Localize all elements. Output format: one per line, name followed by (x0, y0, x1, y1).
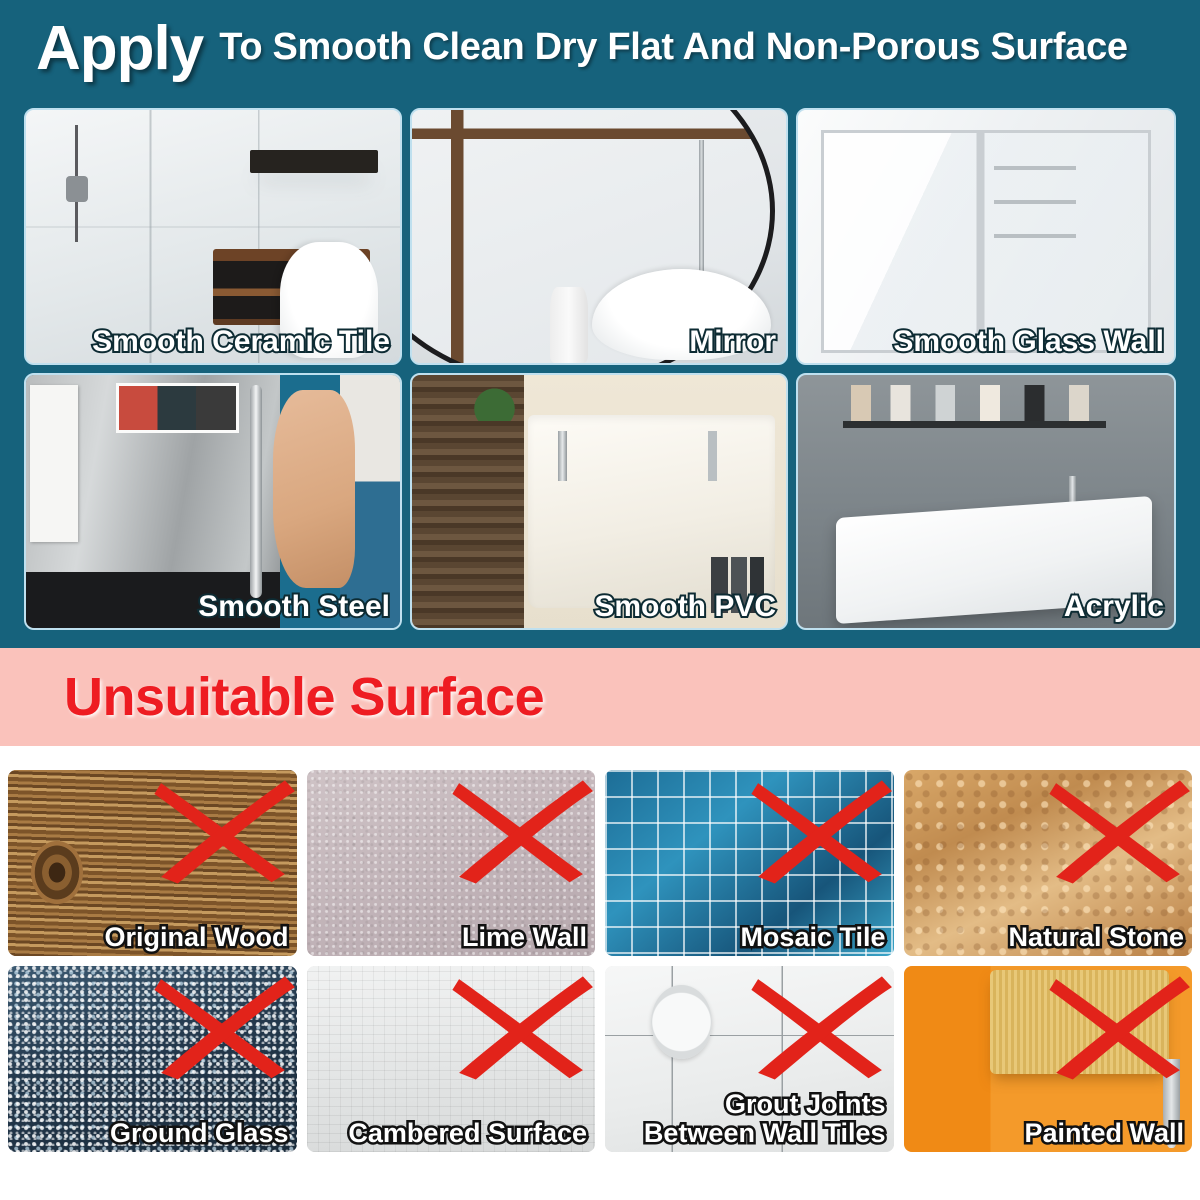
unsuitable-tile-lime-wall[interactable]: Lime Wall (307, 770, 596, 956)
apply-tile-acrylic[interactable]: Acrylic (796, 373, 1176, 630)
apply-tile-row-1: Smooth Ceramic Tile Mirror Smooth Glass … (24, 108, 1176, 365)
apply-tile-label: Smooth Steel (198, 591, 390, 623)
fridge-handle-icon (250, 385, 262, 598)
apply-tile-smooth-ceramic-tile[interactable]: Smooth Ceramic Tile (24, 108, 402, 365)
unsuitable-tile-label: Grout Joints Between Wall Tiles (644, 1090, 886, 1148)
unsuitable-tile-label: Cambered Surface (348, 1119, 587, 1148)
unsuitable-banner: Unsuitable Surface (0, 648, 1200, 746)
unsuitable-tile-natural-stone[interactable]: Natural Stone (904, 770, 1193, 956)
unsuitable-tile-original-wood[interactable]: Original Wood (8, 770, 297, 956)
fridge-magnet-photos (116, 383, 239, 434)
unsuitable-tile-label: Original Wood (105, 923, 289, 952)
arm-icon (273, 390, 355, 587)
faucet-icon (699, 140, 704, 272)
vase-icon (550, 287, 587, 363)
apply-heading-word: Apply (36, 18, 203, 80)
unsuitable-tile-mosaic-tile[interactable]: Mosaic Tile (605, 770, 894, 956)
apply-tile-label: Smooth Glass Wall (893, 326, 1164, 358)
shower-head-icon (75, 125, 78, 241)
apply-tile-smooth-pvc[interactable]: Smooth PVC (410, 373, 788, 630)
unsuitable-tile-label: Painted Wall (1024, 1119, 1184, 1148)
unsuitable-tile-row-1: Original Wood Lime Wall (8, 770, 1192, 956)
unsuitable-tile-ground-glass[interactable]: Ground Glass (8, 966, 297, 1152)
apply-tile-smooth-glass-wall[interactable]: Smooth Glass Wall (796, 108, 1176, 365)
floating-shelf-icon (843, 421, 1106, 428)
unsuitable-tile-label: Natural Stone (1008, 923, 1184, 952)
apply-tile-row-2: Smooth Steel Smooth PVC Acryli (24, 373, 1176, 630)
apply-section: Apply To Smooth Clean Dry Flat And Non-P… (0, 0, 1200, 648)
apply-tile-mirror[interactable]: Mirror (410, 108, 788, 365)
unsuitable-tile-label: Ground Glass (110, 1119, 289, 1148)
apply-tile-label: Smooth Ceramic Tile (92, 326, 390, 358)
note-paper-icon (30, 385, 79, 542)
apply-tile-label: Mirror (689, 326, 776, 358)
apply-tile-label: Smooth PVC (594, 591, 776, 623)
unsuitable-tile-label: Lime Wall (462, 923, 587, 952)
unsuitable-tile-row-2: Ground Glass Cambered Surface (8, 966, 1192, 1152)
apply-tile-smooth-steel[interactable]: Smooth Steel (24, 373, 402, 630)
plant-icon (472, 380, 517, 420)
unsuitable-tile-painted-wall[interactable]: Painted Wall (904, 966, 1193, 1152)
apply-tile-label: Acrylic (1064, 591, 1164, 623)
unsuitable-tile-cambered-surface[interactable]: Cambered Surface (307, 966, 596, 1152)
unsuitable-tile-grid: Original Wood Lime Wall (8, 770, 1192, 1192)
unsuitable-tile-grout-joints[interactable]: Grout Joints Between Wall Tiles (605, 966, 894, 1152)
unsuitable-title: Unsuitable Surface (64, 670, 544, 724)
apply-heading-subtitle: To Smooth Clean Dry Flat And Non-Porous … (219, 28, 1128, 70)
unsuitable-section: Original Wood Lime Wall (0, 746, 1200, 1200)
wall-shelf-icon (250, 150, 377, 173)
unsuitable-tile-label: Mosaic Tile (740, 923, 885, 952)
shelf-items-icon (851, 385, 1099, 425)
apply-header: Apply To Smooth Clean Dry Flat And Non-P… (0, 0, 1200, 98)
apply-tile-grid: Smooth Ceramic Tile Mirror Smooth Glass … (24, 108, 1176, 630)
paint-roller-icon (990, 970, 1169, 1074)
